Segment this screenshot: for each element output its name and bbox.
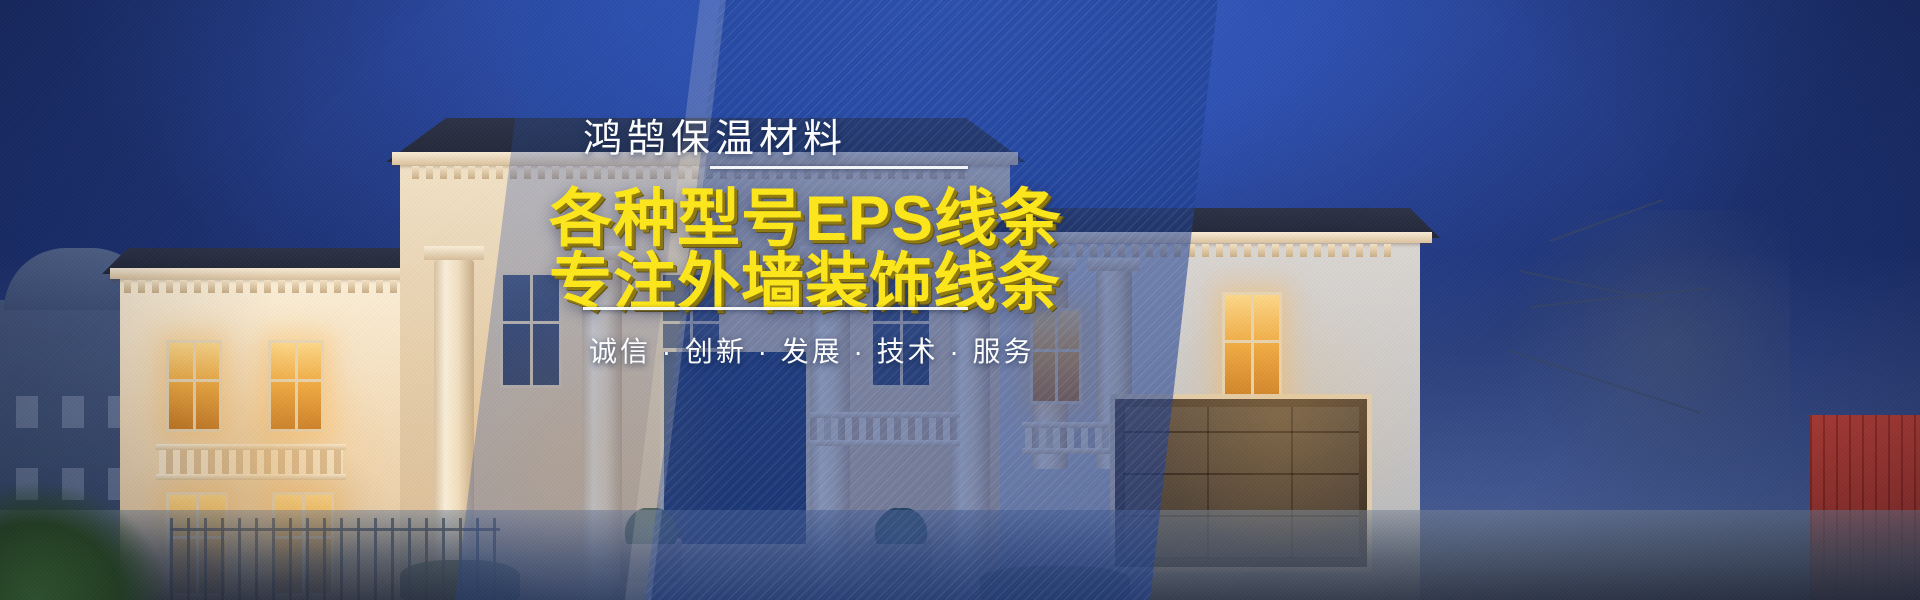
brand-sub-title: 鸿鹄保温材料 (583, 108, 847, 164)
tagline: 诚信 · 创新 · 发展 · 技术 · 服务 (589, 330, 1035, 370)
headline-line-2: 专注外墙装饰线条 (549, 252, 1061, 315)
promo-banner: 鸿鹄保温材料 各种型号EPS线条 专注外墙装饰线条 诚信 · 创新 · 发展 ·… (0, 0, 1920, 600)
banner-content: 鸿鹄保温材料 各种型号EPS线条 专注外墙装饰线条 诚信 · 创新 · 发展 ·… (0, 0, 1920, 600)
divider-bottom (583, 307, 968, 310)
divider-top (710, 166, 968, 169)
headline-line-1: 各种型号EPS线条 (549, 188, 1062, 251)
